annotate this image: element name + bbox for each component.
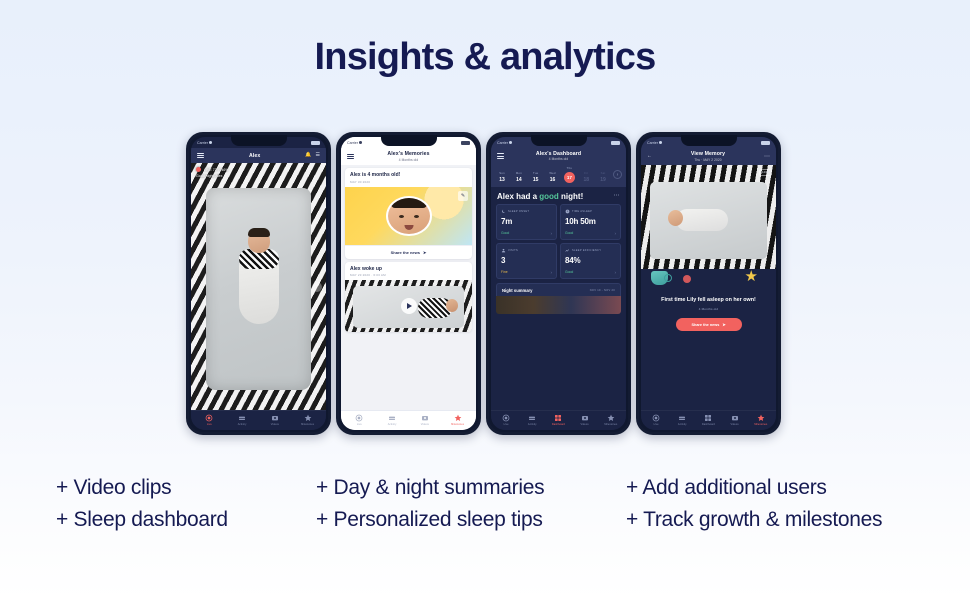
- tab-activity[interactable]: Activity: [379, 414, 405, 426]
- phone-notch: [381, 135, 437, 146]
- tab-milestones[interactable]: Milestones: [295, 414, 321, 426]
- baby-hair: [248, 228, 270, 237]
- tab-label: Videos: [731, 423, 739, 426]
- baby-head: [446, 299, 458, 312]
- hamburger-icon[interactable]: [197, 153, 204, 158]
- headline-pre: Alex had a: [497, 192, 539, 201]
- activity-icon: [528, 414, 536, 422]
- baby-image: [236, 229, 282, 325]
- activity-icon: [678, 414, 686, 422]
- day-cell[interactable]: Sat19: [596, 171, 610, 183]
- stat-status: Good: [565, 270, 573, 274]
- tab-label: Milestones: [451, 423, 464, 426]
- battery-icon: [611, 141, 620, 145]
- stat-value: 10h 50m: [565, 217, 616, 226]
- videos-icon: [421, 414, 429, 422]
- app-title: Alex's Memories: [387, 151, 429, 157]
- stat-label: TIME ASLEEP: [572, 210, 592, 213]
- wifi-icon: [209, 141, 212, 144]
- chart-icon: [565, 248, 570, 253]
- day-cell[interactable]: Wed16: [546, 171, 560, 183]
- star-icon: ★: [745, 269, 758, 284]
- videos-icon: [271, 414, 279, 422]
- tab-label: Milestones: [754, 423, 767, 426]
- day-name: Wed: [546, 171, 560, 175]
- tab-videos[interactable]: Videos: [412, 414, 438, 426]
- tab-activity[interactable]: Activity: [519, 414, 545, 426]
- stat-status: Fine: [501, 270, 508, 274]
- stat-card-sleep-efficiency[interactable]: SLEEP EFFICIENCY 84% Good›: [560, 243, 621, 279]
- app-header: Alex 🔔 ☰: [191, 148, 326, 163]
- bell-icon[interactable]: 🔔: [305, 153, 311, 158]
- tab-label: Videos: [421, 423, 429, 426]
- carrier-label: Carrier: [647, 141, 658, 145]
- bottom-tab-bar: Live Activity Dashboard Videos Milestone…: [491, 410, 626, 430]
- memory-photo[interactable]: 14:09: [641, 165, 776, 269]
- stat-value: 7m: [501, 217, 552, 226]
- crib-background: [191, 163, 326, 410]
- live-caption: Good night, Alex: [196, 174, 321, 178]
- app-title: Alex's Dashboard: [536, 151, 581, 157]
- list-icon[interactable]: ☰: [316, 153, 320, 158]
- memory-caption: First time Lily fell asleep on her own! …: [641, 295, 776, 311]
- battery-icon: [461, 141, 470, 145]
- feature-list: + Video clips + Sleep dashboard + Day & …: [56, 472, 936, 536]
- live-icon: [355, 414, 363, 422]
- day-number: 17: [564, 172, 575, 183]
- grid-icon: [554, 414, 562, 422]
- day-name: Mon: [512, 171, 526, 175]
- decorative-illustrations: ★: [641, 269, 776, 295]
- day-name: Fri: [579, 171, 593, 175]
- share-label: Share the news: [391, 250, 420, 255]
- day-number: 19: [596, 177, 610, 183]
- tab-label: Live: [357, 423, 362, 426]
- next-week-chevron-icon[interactable]: ›: [613, 170, 622, 179]
- dashboard-scroll[interactable]: Alex had a good night! ⋯ SLEEP ONSET 7m …: [491, 187, 626, 411]
- memory-title: Alex woke up: [350, 266, 467, 272]
- bottom-tab-bar: Live Activity Dashboard Videos Milestone…: [641, 410, 776, 430]
- videos-icon: [731, 414, 739, 422]
- day-name: Sat: [596, 171, 610, 175]
- tab-milestones[interactable]: Milestones: [598, 414, 624, 426]
- headline-highlight: good: [539, 192, 559, 201]
- feature-item: + Personalized sleep tips: [316, 504, 626, 536]
- memory-date: MAY 30 2020: [350, 180, 467, 184]
- live-status-overlay: LIVE 72°F 46% Good night, Alex: [196, 167, 321, 178]
- back-arrow-icon[interactable]: ←: [647, 154, 652, 159]
- carrier-label: Carrier: [497, 141, 508, 145]
- tab-live[interactable]: Live: [196, 414, 222, 426]
- carrier-label: Carrier: [197, 141, 208, 145]
- tab-videos[interactable]: Videos: [722, 414, 748, 426]
- carrier-label: Carrier: [347, 141, 358, 145]
- hamburger-icon[interactable]: [347, 154, 354, 159]
- baby-eye-right: [414, 215, 419, 218]
- memory-date: MAY 23 2020 · 6:03 AM: [350, 273, 467, 277]
- feature-item: + Add additional users: [626, 472, 936, 504]
- wifi-icon: [659, 141, 662, 144]
- feature-column-3: + Add additional users + Track growth & …: [626, 472, 936, 536]
- battery-icon: [311, 141, 320, 145]
- next-chevron-icon[interactable]: ›: [312, 282, 322, 292]
- live-icon: [502, 414, 510, 422]
- stat-label: SLEEP EFFICIENCY: [572, 249, 601, 252]
- day-number: 18: [579, 177, 593, 183]
- chevron-right-icon: ›: [615, 231, 617, 236]
- day-cell[interactable]: Mon14: [512, 171, 526, 183]
- stat-label: SLEEP ONSET: [508, 210, 529, 213]
- person-icon: [501, 248, 506, 253]
- memory-card[interactable]: Alex is 4 months old! MAY 30 2020 ✎: [345, 168, 472, 259]
- memory-card-header: Alex is 4 months old! MAY 30 2020: [345, 168, 472, 187]
- headline-post: night!: [559, 192, 583, 201]
- day-number: 14: [512, 177, 526, 183]
- tab-live[interactable]: Live: [643, 414, 669, 426]
- edit-icon[interactable]: ✎: [458, 191, 468, 201]
- dashboard-headline: Alex had a good night!: [497, 192, 583, 201]
- app-header: ← View Memory Thu · MAY 2 2020 ⋯: [641, 148, 776, 165]
- page-title: Insights & analytics: [0, 36, 970, 79]
- week-selector[interactable]: Sun13 Mon14 Tue15 Wed16 Thu17 Fri18 Sat1…: [491, 164, 626, 187]
- stat-card-sleep-onset[interactable]: SLEEP ONSET 7m Good›: [496, 204, 557, 240]
- tab-milestones[interactable]: Milestones: [748, 414, 774, 426]
- share-news-button[interactable]: Share the news ➤: [345, 245, 472, 259]
- phone-view-memory: Carrier ← View Memory Thu · MAY 2 2020 ⋯: [636, 132, 781, 435]
- feature-item: + Track growth & milestones: [626, 504, 936, 536]
- memory-detail[interactable]: 14:09 ★ First time Lily fell asleep on h…: [641, 165, 776, 410]
- tab-activity[interactable]: Activity: [229, 414, 255, 426]
- night-summary-chart: [496, 296, 621, 314]
- stat-card-time-asleep[interactable]: TIME ASLEEP 10h 50m Good›: [560, 204, 621, 240]
- phone-notch: [231, 135, 287, 146]
- stat-value: 3: [501, 256, 552, 265]
- memories-feed[interactable]: Alex is 4 months old! MAY 30 2020 ✎: [341, 165, 476, 410]
- tab-label: Videos: [271, 423, 279, 426]
- wifi-icon: [359, 141, 362, 144]
- tab-label: Dashboard: [702, 423, 715, 426]
- stat-status: Good: [501, 231, 509, 235]
- memory-card[interactable]: Alex woke up MAY 23 2020 · 6:03 AM: [345, 262, 472, 333]
- day-cell[interactable]: Sun13: [495, 171, 509, 183]
- phone-memories: Carrier Alex's Memories 4 Months old Ale…: [336, 132, 481, 435]
- baby-body: [676, 209, 728, 231]
- wifi-icon: [509, 141, 512, 144]
- share-news-button[interactable]: Share the news ➤: [676, 318, 742, 331]
- day-number: 15: [529, 177, 543, 183]
- tab-milestones[interactable]: Milestones: [445, 414, 471, 426]
- chevron-right-icon: ›: [551, 270, 553, 275]
- feature-item: + Sleep dashboard: [56, 504, 316, 536]
- memory-photo: ✎: [345, 187, 472, 245]
- baby-eye-left: [399, 215, 404, 218]
- stat-card-visits[interactable]: VISITS 3 Fine›: [496, 243, 557, 279]
- activity-icon: [238, 414, 246, 422]
- video-thumbnail[interactable]: [345, 280, 472, 332]
- tab-label: Activity: [238, 423, 247, 426]
- memory-card-header: Alex woke up MAY 23 2020 · 6:03 AM: [345, 262, 472, 281]
- tab-label: Live: [207, 423, 212, 426]
- baby-head: [248, 229, 270, 253]
- tab-label: Dashboard: [552, 423, 565, 426]
- app-header: Alex's Memories 4 Months old: [341, 148, 476, 165]
- bottom-tab-bar: Live Activity Videos Milestones: [191, 410, 326, 430]
- cup-icon: [651, 271, 668, 285]
- dot-shape: [683, 275, 691, 283]
- night-summary-header[interactable]: Night summary NOV 19 - NOV 20: [496, 283, 621, 296]
- phone-dashboard: Carrier Alex's Dashboard 4 Months old Su…: [486, 132, 631, 435]
- app-title: Alex: [208, 153, 301, 159]
- tab-videos[interactable]: Videos: [572, 414, 598, 426]
- phone-notch: [681, 135, 737, 146]
- tab-videos[interactable]: Videos: [262, 414, 288, 426]
- day-name: Sun: [495, 171, 509, 175]
- memory-title: Alex is 4 months old!: [350, 172, 467, 178]
- live-icon: [205, 414, 213, 422]
- phone-live-view: Carrier Alex 🔔 ☰: [186, 132, 331, 435]
- baby-mouth: [404, 225, 413, 230]
- tab-activity[interactable]: Activity: [669, 414, 695, 426]
- night-summary-title: Night summary: [502, 288, 532, 293]
- app-subtitle: 4 Months old: [358, 158, 459, 162]
- share-label: Share the news: [691, 323, 719, 327]
- app-subtitle: 4 Months old: [508, 157, 609, 161]
- stat-label: VISITS: [508, 249, 518, 252]
- feature-item: + Day & night summaries: [316, 472, 626, 504]
- feature-column-1: + Video clips + Sleep dashboard: [56, 472, 316, 536]
- tab-label: Activity: [388, 423, 397, 426]
- tab-dashboard[interactable]: Dashboard: [545, 414, 571, 426]
- app-subtitle: Thu · MAY 2 2020: [656, 158, 760, 162]
- day-name: Tue: [529, 171, 543, 175]
- tab-dashboard[interactable]: Dashboard: [695, 414, 721, 426]
- chevron-right-icon: ›: [551, 231, 553, 236]
- bottom-tab-bar: Live Activity Videos Milestones: [341, 410, 476, 430]
- recording-indicator-icon: [196, 167, 201, 172]
- day-cell[interactable]: Fri18: [579, 171, 593, 183]
- day-number: 16: [546, 177, 560, 183]
- moon-icon: [501, 209, 506, 214]
- more-icon[interactable]: ⋯: [614, 192, 621, 199]
- night-summary-range: NOV 19 - NOV 20: [590, 289, 615, 292]
- chevron-right-icon: ›: [615, 270, 617, 275]
- app-header: Alex's Dashboard 4 Months old: [491, 148, 626, 164]
- tab-live[interactable]: Live: [346, 414, 372, 426]
- tab-label: Activity: [528, 423, 537, 426]
- star-icon: [304, 414, 312, 422]
- tab-label: Videos: [581, 423, 589, 426]
- baby-portrait: [386, 196, 432, 236]
- live-icon: [652, 414, 660, 422]
- stat-status: Good: [565, 231, 573, 235]
- tab-live[interactable]: Live: [493, 414, 519, 426]
- day-number: 13: [495, 177, 509, 183]
- tab-label: Activity: [678, 423, 687, 426]
- feature-column-2: + Day & night summaries + Personalized s…: [316, 472, 626, 536]
- hamburger-icon[interactable]: [497, 153, 504, 158]
- stats-grid: SLEEP ONSET 7m Good› TIME ASLEEP 10h 50m…: [491, 204, 626, 279]
- live-video-area[interactable]: LIVE 72°F 46% Good night, Alex ›: [191, 163, 326, 410]
- tab-label: Milestones: [301, 423, 314, 426]
- memory-caption-text: First time Lily fell asleep on her own!: [650, 297, 767, 304]
- battery-icon: [761, 141, 770, 145]
- dashboard-headline-row: Alex had a good night! ⋯: [491, 187, 626, 204]
- timestamp-badge: 14:09: [759, 169, 773, 176]
- clock-icon: [565, 209, 570, 214]
- tab-label: Milestones: [604, 423, 617, 426]
- stat-value: 84%: [565, 256, 616, 265]
- phone-notch: [531, 135, 587, 146]
- play-icon[interactable]: [401, 298, 417, 314]
- day-cell[interactable]: Tue15: [529, 171, 543, 183]
- day-cell-selected[interactable]: Thu17: [562, 166, 576, 183]
- share-icon: ➤: [722, 322, 725, 327]
- app-title: View Memory: [691, 151, 725, 157]
- phone-mockups-row: Carrier Alex 🔔 ☰: [186, 132, 786, 437]
- star-icon: [757, 414, 765, 422]
- tab-label: Live: [654, 423, 659, 426]
- day-name: Thu: [562, 166, 576, 170]
- feature-item: + Video clips: [56, 472, 316, 504]
- baby-head: [668, 210, 683, 226]
- activity-icon: [388, 414, 396, 422]
- live-metrics: LIVE 72°F 46%: [204, 168, 229, 172]
- star-icon: [454, 414, 462, 422]
- tab-label: Live: [504, 423, 509, 426]
- more-icon[interactable]: ⋯: [764, 153, 770, 160]
- memory-age: 4 Months old: [650, 307, 767, 311]
- share-icon: ➤: [423, 250, 426, 255]
- baby-hair: [391, 196, 427, 208]
- grid-icon: [704, 414, 712, 422]
- videos-icon: [581, 414, 589, 422]
- star-icon: [607, 414, 615, 422]
